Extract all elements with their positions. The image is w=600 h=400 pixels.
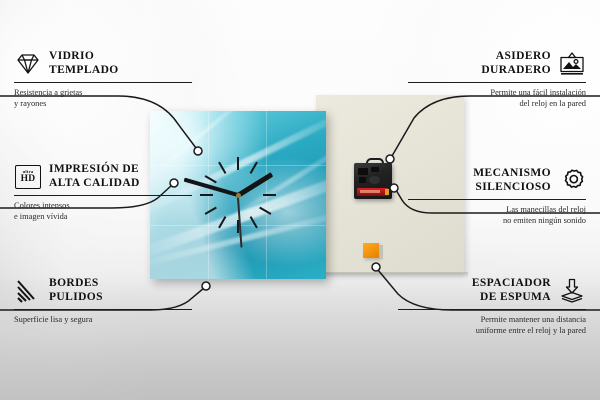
callout-header: ultra HD IMPRESIÓN DE ALTA CALIDAD <box>14 163 192 191</box>
callout-divider <box>14 309 192 310</box>
callout-title: ESPACIADOR DE ESPUMA <box>472 277 551 304</box>
callout-title: ASIDERO DURADERO <box>481 50 551 77</box>
callout-header: MECANISMO SILENCIOSO <box>408 167 586 195</box>
callout-header: ESPACIADOR DE ESPUMA <box>398 277 586 305</box>
movement-detail <box>371 167 379 172</box>
callout-divider <box>408 199 586 200</box>
ultra-hd-icon: ultra HD <box>14 163 42 191</box>
callout-description: Colores intensos e imagen vívida <box>14 200 192 223</box>
diamond-icon <box>14 50 42 78</box>
gear-icon <box>558 167 586 195</box>
callout-description: Superficie lisa y segura <box>14 314 192 325</box>
callout-title: VIDRIO TEMPLADO <box>49 50 119 77</box>
aa-battery <box>357 188 388 196</box>
arrow-down-layers-icon <box>558 277 586 305</box>
callout-header: ASIDERO DURADERO <box>408 50 586 78</box>
callout-description: Las manecillas del reloj no emiten ningú… <box>408 204 586 227</box>
feature-callout-asidero-duradero: ASIDERO DURADERO Permite una fácil insta… <box>408 50 586 110</box>
callout-divider <box>14 195 192 196</box>
framed-picture-hanger-icon <box>558 50 586 78</box>
callout-divider <box>398 309 586 310</box>
callout-description: Resistencia a grietas y rayones <box>14 87 192 110</box>
battery-label <box>360 190 380 193</box>
callout-header: BORDES PULIDOS <box>14 277 192 305</box>
diagonal-lines-icon <box>14 277 42 305</box>
callout-title: MECANISMO SILENCIOSO <box>473 167 551 194</box>
feature-callout-impresion-alta-calidad: ultra HD IMPRESIÓN DE ALTA CALIDAD Color… <box>14 163 192 223</box>
callout-title: IMPRESIÓN DE ALTA CALIDAD <box>49 163 140 190</box>
callout-divider <box>14 82 192 83</box>
feature-callout-vidrio-templado: VIDRIO TEMPLADO Resistencia a grietas y … <box>14 50 192 110</box>
product-infographic: VIDRIO TEMPLADO Resistencia a grietas y … <box>0 0 600 400</box>
movement-detail <box>369 176 380 184</box>
movement-housing <box>354 163 392 199</box>
callout-description: Permite una fácil instalación del reloj … <box>408 87 586 110</box>
foam-spacer-pad <box>363 243 379 258</box>
callout-title: BORDES PULIDOS <box>49 277 103 304</box>
callout-header: VIDRIO TEMPLADO <box>14 50 192 78</box>
feature-callout-bordes-pulidos: BORDES PULIDOS Superficie lisa y segura <box>14 277 192 325</box>
feature-callout-espaciador-de-espuma: ESPACIADOR DE ESPUMA Permite mantener un… <box>398 277 586 337</box>
clock-center-pin <box>236 193 241 198</box>
movement-detail <box>358 168 368 175</box>
feature-callout-mecanismo-silencioso: MECANISMO SILENCIOSO Las manecillas del … <box>408 167 586 227</box>
clock-movement-mechanism <box>354 163 392 199</box>
movement-detail <box>359 177 366 183</box>
callout-description: Permite mantener una distancia uniforme … <box>398 314 586 337</box>
callout-divider <box>408 82 586 83</box>
